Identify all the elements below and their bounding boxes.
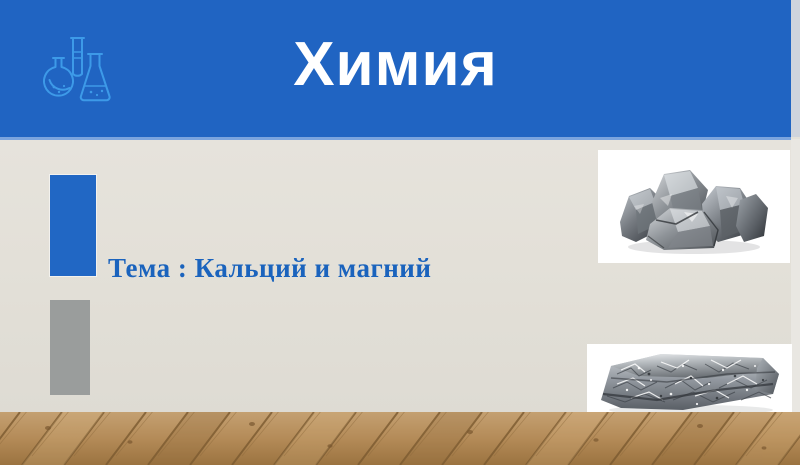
slide-subtitle: Тема : Кальций и магний — [108, 253, 431, 284]
accent-rect-gray — [50, 300, 90, 395]
magnesium-ingot-photo — [587, 344, 792, 420]
wooden-floor — [0, 412, 800, 465]
wall-right-edge-strip — [791, 139, 800, 414]
accent-rect-blue — [50, 175, 96, 276]
header-underline — [0, 137, 791, 140]
calcium-metal-photo — [598, 150, 790, 263]
page-title: Химия — [0, 26, 791, 104]
presentation-slide: Химия Тема : Кальций и магний — [0, 0, 800, 465]
header-right-edge — [791, 0, 800, 137]
